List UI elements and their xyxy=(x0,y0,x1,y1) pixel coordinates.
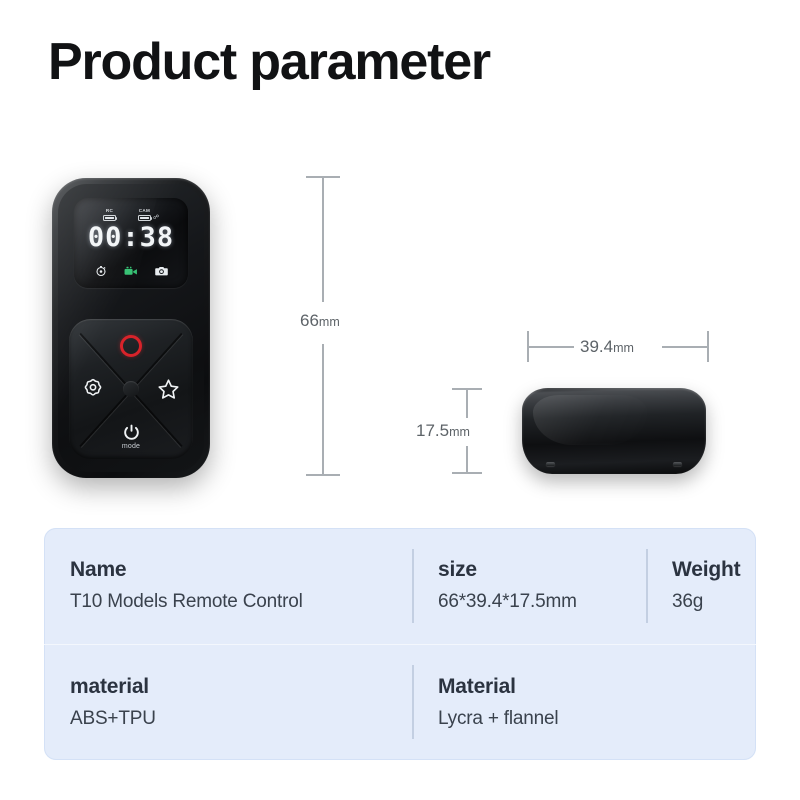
spec-cell-name: Name T10 Models Remote Control xyxy=(44,528,412,644)
device-front-view: RC CAM ☍ 00:38 xyxy=(52,178,210,478)
device-screen: RC CAM ☍ 00:38 xyxy=(74,198,188,288)
depth-dimension-cap-top xyxy=(452,388,482,390)
spec-label: size xyxy=(438,558,646,582)
depth-dimension-label: 17.5mm xyxy=(416,421,470,441)
spec-table: Name T10 Models Remote Control size 66*3… xyxy=(44,528,756,760)
width-dimension-cap-right xyxy=(707,331,709,362)
spec-cell-material-body: material ABS+TPU xyxy=(44,645,412,761)
spec-cell-weight: Weight 36g xyxy=(646,528,756,644)
spec-label: Weight xyxy=(672,558,756,582)
rc-battery-indicator: RC xyxy=(103,209,116,221)
star-icon[interactable] xyxy=(156,377,181,402)
height-dimension-cap-bottom xyxy=(306,474,340,476)
rc-battery-label: RC xyxy=(106,209,113,214)
table-row: Name T10 Models Remote Control size 66*3… xyxy=(44,528,756,645)
table-row: material ABS+TPU Material Lycra + flanne… xyxy=(44,645,756,761)
spec-value: Lycra + flannel xyxy=(438,708,756,730)
mode-power-button[interactable]: mode xyxy=(114,423,148,450)
spec-value: ABS+TPU xyxy=(70,708,412,730)
spec-label: material xyxy=(70,675,412,699)
photo-camera-icon xyxy=(155,265,168,277)
screen-mode-icons xyxy=(74,265,188,277)
battery-icon xyxy=(103,215,116,221)
video-camera-icon xyxy=(124,265,138,277)
width-dimension-cap-left xyxy=(527,331,529,362)
spec-value: T10 Models Remote Control xyxy=(70,591,412,613)
spec-label: Material xyxy=(438,675,756,699)
spec-cell-material-case: Material Lycra + flannel xyxy=(412,645,756,761)
spec-label: Name xyxy=(70,558,412,582)
device-side-view xyxy=(522,388,706,474)
screen-time-readout: 00:38 xyxy=(74,222,188,253)
depth-dimension-cap-bottom xyxy=(452,472,482,474)
side-port-left xyxy=(546,462,555,466)
product-parameter-page: Product parameter RC CAM ☍ xyxy=(0,0,800,800)
height-dimension-label: 66mm xyxy=(300,311,340,331)
record-button[interactable] xyxy=(120,335,142,357)
screen-status-bar: RC CAM ☍ xyxy=(74,209,188,221)
gear-icon[interactable] xyxy=(81,377,105,401)
width-dimension-label: 39.4mm xyxy=(580,337,634,357)
timer-icon xyxy=(95,265,107,277)
power-icon xyxy=(122,423,141,442)
pad-center xyxy=(123,381,139,397)
spec-cell-size: size 66*39.4*17.5mm xyxy=(412,528,646,644)
cam-battery-label: CAM xyxy=(139,209,150,214)
side-port-right xyxy=(673,462,682,466)
bluetooth-icon: ☍ xyxy=(153,215,159,221)
button-pad: mode xyxy=(69,319,193,459)
page-title: Product parameter xyxy=(48,32,490,92)
height-dimension-cap-top xyxy=(306,176,340,178)
cam-battery-indicator: CAM ☍ xyxy=(138,209,159,221)
battery-icon xyxy=(138,215,151,221)
device-front-body: RC CAM ☍ 00:38 xyxy=(58,184,204,472)
spec-value: 36g xyxy=(672,591,756,613)
mode-label: mode xyxy=(122,443,140,450)
spec-value: 66*39.4*17.5mm xyxy=(438,591,646,613)
